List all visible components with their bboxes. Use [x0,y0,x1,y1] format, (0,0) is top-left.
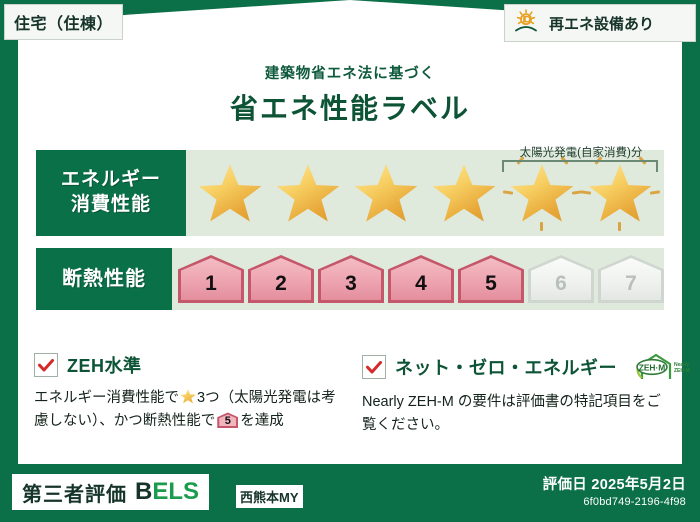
insulation-row: 断熱性能 1 2 3 [36,248,664,310]
renewable-energy-badge: 再エネ設備あり [504,4,696,42]
zeh-section: ZEH水準 エネルギー消費性能で3つ（太陽光発電は考慮しない）、かつ断熱性能で5… [34,352,668,438]
zeh-standard-title: ZEH水準 [67,352,142,378]
net-zero-header: ネット・ゼロ・エネルギー ZEH·M Nearly ZEH-M [362,352,668,382]
category-tag-label: 住宅（住棟） [14,10,113,34]
category-tag: 住宅（住棟） [4,4,123,40]
bels-letters-els: ELS [152,478,199,505]
label-footer: 第三者評価 BELS 西熊本MY 評価日 2025年5月2日 6f0bd749-… [0,464,700,522]
evaluation-date: 評価日 2025年5月2日 [543,473,686,494]
zeh-standard-header: ZEH水準 [34,352,340,378]
insulation-level-6-num: 6 [528,255,594,303]
zeh-body-pre: エネルギー消費性能で [34,390,179,406]
insulation-level-7: 7 [598,255,664,303]
label-title-block: 建築物省エネ法に基づく 省エネ性能ラベル [0,62,700,127]
insulation-level-7-num: 7 [598,255,664,303]
insulation-level-5: 5 [458,255,524,303]
certificate-id: 6f0bd749-2196-4f98 [543,496,686,508]
evaluation-date-label: 評価日 [543,477,587,493]
energy-label-line-2: 消費性能 [71,193,151,218]
inline-star-icon [180,389,196,404]
bels-jp-text: 第三者評価 [22,478,127,507]
insulation-level-5-num: 5 [458,255,524,303]
insulation-level-2-num: 2 [248,255,314,303]
insulation-level-3: 3 [318,255,384,303]
footer-meta: 評価日 2025年5月2日 6f0bd749-2196-4f98 [543,473,686,508]
label-subtitle: 建築物省エネ法に基づく [0,62,700,83]
inline-house-5-icon: 5 [217,412,238,428]
net-zero-title: ネット・ゼロ・エネルギー [395,354,617,380]
net-zero-body: Nearly ZEH-M の要件は評価書の特記項目をご覧ください。 [362,391,668,438]
insulation-value: 1 2 3 4 5 [172,248,664,310]
zeh-standard-block: ZEH水準 エネルギー消費性能で3つ（太陽光発電は考慮しない）、かつ断熱性能で5… [34,352,340,438]
insulation-level-1-num: 1 [178,255,244,303]
insulation-level-4-num: 4 [388,255,454,303]
solar-panel-icon [513,8,543,39]
star-1 [192,155,269,231]
project-name: 西熊本MY [236,485,303,508]
zeh-body-post: を達成 [240,413,284,429]
evaluation-date-value: 2025年5月2日 [591,477,686,493]
svg-text:ZEH-M: ZEH-M [674,368,690,374]
energy-consumption-value: 太陽光発電(自家消費)分 [186,150,664,236]
check-icon [362,355,386,379]
insulation-level-3-num: 3 [318,255,384,303]
energy-consumption-row: エネルギー 消費性能 太 [36,150,664,236]
insulation-level-4: 4 [388,255,454,303]
insulation-label-text: 断熱性能 [62,266,146,292]
performance-rows: エネルギー 消費性能 太 [36,150,664,322]
net-zero-energy-block: ネット・ゼロ・エネルギー ZEH·M Nearly ZEH-M Nearly Z… [362,352,668,438]
insulation-label: 断熱性能 [36,248,172,310]
check-icon [34,353,58,377]
insulation-level-6: 6 [528,255,594,303]
energy-label-line-1: エネルギー [61,168,161,193]
star-4 [426,155,503,231]
star-2 [270,155,347,231]
label-title: 省エネ性能ラベル [0,87,700,127]
insulation-level-scale: 1 2 3 4 5 [178,255,664,303]
insulation-level-1: 1 [178,255,244,303]
solar-annotation-bracket [502,160,658,172]
renewable-badge-label: 再エネ設備あり [549,13,654,34]
solar-annotation-text: 太陽光発電(自家消費)分 [502,144,660,160]
bels-letter-b: B [135,478,152,505]
bels-logo: 第三者評価 BELS [12,474,209,510]
star-3 [348,155,425,231]
energy-performance-label: 住宅（住棟） 再エネ設備あり 建築物省エネ法に基づく [0,0,700,522]
zeh-m-logo-icon: ZEH·M Nearly ZEH-M [630,352,692,382]
svg-text:ZEH·M: ZEH·M [639,362,666,372]
zeh-standard-body: エネルギー消費性能で3つ（太陽光発電は考慮しない）、かつ断熱性能で5を達成 [34,387,340,434]
insulation-level-2: 2 [248,255,314,303]
energy-consumption-label: エネルギー 消費性能 [36,150,186,236]
